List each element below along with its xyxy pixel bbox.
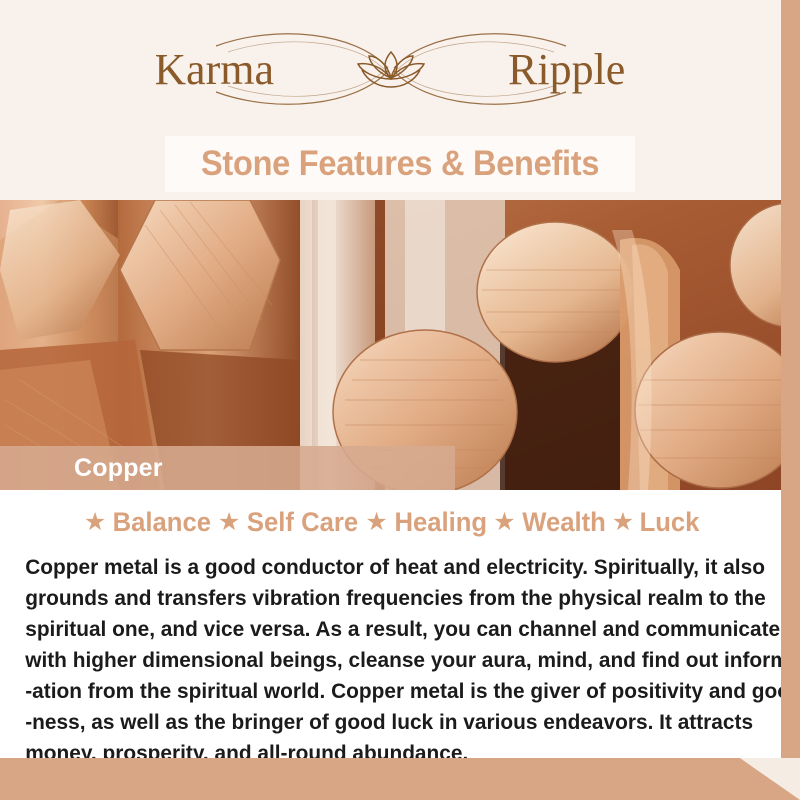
description-paragraph: Copper metal is a good conductor of heat… <box>0 552 758 769</box>
brand-name-left: Karma <box>156 45 274 94</box>
star-icon: ★ <box>489 510 519 535</box>
star-icon: ★ <box>608 510 638 535</box>
feature-item-self-care: Self Care <box>247 507 358 538</box>
infographic-page: Karma Ripple Stone Features & Benefits <box>0 0 800 800</box>
description-line: -ness, as well as the bringer of good lu… <box>25 707 744 738</box>
star-icon: ★ <box>361 510 391 535</box>
star-icon: ★ <box>214 510 244 535</box>
text-panel: ★ Balance ★ Self Care ★ Healing ★ Wealth… <box>0 490 781 758</box>
logo-svg: Karma Ripple <box>156 26 626 114</box>
logo-header: Karma Ripple <box>0 0 781 131</box>
brand-name-right: Ripple <box>508 45 625 94</box>
feature-list: ★ Balance ★ Self Care ★ Healing ★ Wealth… <box>0 490 781 546</box>
bottom-decorative-band <box>0 758 800 800</box>
description-line: spiritual one, and vice versa. As a resu… <box>25 614 744 645</box>
band-shape <box>0 758 800 800</box>
feature-item-balance: Balance <box>113 507 211 538</box>
description-line: -ation from the spiritual world. Copper … <box>25 676 744 707</box>
page-title: Stone Features & Benefits <box>201 144 599 184</box>
feature-item-healing: Healing <box>394 507 487 538</box>
brand-logo: Karma Ripple <box>156 26 626 114</box>
content-card: Karma Ripple Stone Features & Benefits <box>0 0 781 781</box>
description-line: Copper metal is a good conductor of heat… <box>25 552 744 583</box>
title-banner: Stone Features & Benefits <box>165 136 635 192</box>
photo-caption-bar: Copper <box>0 446 455 490</box>
star-icon: ★ <box>80 510 110 535</box>
feature-item-wealth: Wealth <box>522 507 606 538</box>
hero-photo: Copper <box>0 200 781 490</box>
photo-caption-text: Copper <box>74 454 163 483</box>
description-line: with higher dimensional beings, cleanse … <box>25 645 744 676</box>
feature-item-luck: Luck <box>640 507 700 538</box>
description-line: grounds and transfers vibration frequenc… <box>25 583 744 614</box>
